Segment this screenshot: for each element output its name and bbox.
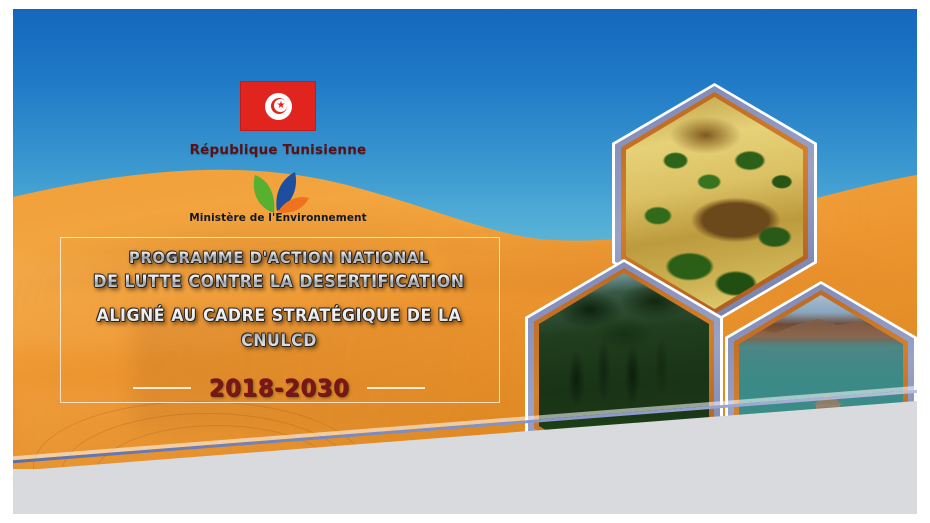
year-rule-left: [133, 387, 191, 389]
year-rule-right: [367, 387, 425, 389]
title-block: PROGRAMME D'ACTION NATIONAL DE LUTTE CON…: [60, 245, 498, 354]
report-cover: ★ République Tunisienne Ministère de l'E…: [13, 9, 917, 514]
mountain-ridge: [739, 315, 903, 339]
republic-label: République Tunisienne: [153, 142, 403, 158]
flag-white-disc: ★: [265, 93, 292, 120]
tunisia-flag-icon: ★: [240, 81, 316, 131]
title-line-3: ALIGNÉ AU CADRE STRATÉGIQUE DE LA CNULCD: [75, 304, 482, 354]
flag-star-icon: ★: [277, 101, 286, 110]
title-line-1: PROGRAMME D'ACTION NATIONAL: [75, 245, 482, 270]
year-range-row: 2018-2030: [60, 371, 498, 405]
title-line-2: DE LUTTE CONTRE LA DESERTIFICATION: [75, 270, 482, 295]
year-range: 2018-2030: [209, 374, 350, 402]
ministry-environment-leaf-logo: [241, 167, 313, 215]
ministry-label: Ministère de l'Environnement: [143, 212, 413, 224]
leaf-green: [254, 175, 275, 213]
